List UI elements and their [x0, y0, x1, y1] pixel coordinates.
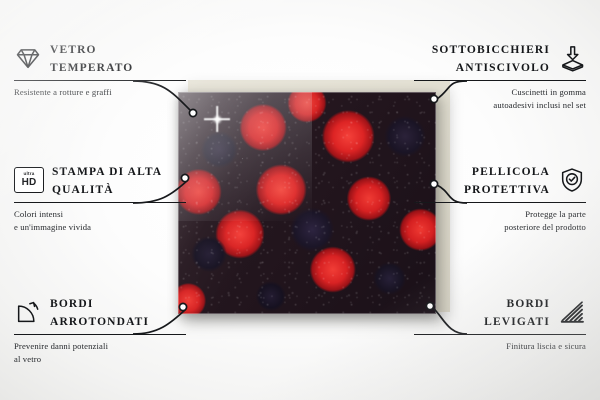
shield-check-icon [558, 166, 586, 194]
rounded-corner-icon [14, 298, 42, 326]
hatched-triangle-icon [558, 298, 586, 326]
title-line: ARROTONDATI [50, 316, 149, 328]
title-line: QUALITÀ [52, 184, 114, 196]
anti-slip-pad-icon [558, 44, 586, 72]
feature-rule [414, 334, 586, 336]
feature-rule [14, 80, 186, 82]
feature-title: BORDI LEVIGATI [484, 294, 550, 330]
feature-stampa-alta-qualita: ultra HD STAMPA DI ALTA QUALITÀ Colori i… [14, 162, 186, 233]
feature-title: BORDI ARROTONDATI [50, 294, 149, 330]
title-line: VETRO [50, 44, 97, 56]
feature-description: Cuscinetti in gomma autoadesivi inclusi … [414, 86, 586, 111]
hd-label: HD [22, 178, 37, 188]
feature-bordi-arrotondati: BORDI ARROTONDATI Prevenire danni potenz… [14, 294, 186, 365]
diamond-icon [14, 44, 42, 72]
feature-bordi-levigati: BORDI LEVIGATI Finitura liscia e sicura [414, 294, 586, 353]
title-line: LEVIGATI [484, 316, 550, 328]
feature-vetro-temperato: VETRO TEMPERATO Resistente a rotture e g… [14, 40, 186, 99]
feature-pellicola-protettiva: PELLICOLA PROTETTIVA Protegge la parte p… [414, 162, 586, 233]
printed-glass-panel [178, 92, 436, 314]
title-line: BORDI [50, 298, 93, 310]
feature-rule [414, 202, 586, 204]
feature-sottobicchieri-antiscivolo: SOTTOBICCHIERI ANTISCIVOLO Cuscinetti in… [414, 40, 586, 111]
ultra-label: ultra [24, 172, 35, 177]
feature-rule [14, 202, 186, 204]
feature-description: Prevenire danni potenziali al vetro [14, 340, 186, 365]
feature-title: SOTTOBICCHIERI ANTISCIVOLO [432, 40, 550, 76]
feature-title: VETRO TEMPERATO [50, 40, 133, 76]
feature-title: STAMPA DI ALTA QUALITÀ [52, 162, 162, 198]
feature-title: PELLICOLA PROTETTIVA [464, 162, 550, 198]
title-line: ANTISCIVOLO [456, 62, 550, 74]
title-line: SOTTOBICCHIERI [432, 44, 550, 56]
title-line: STAMPA DI ALTA [52, 166, 162, 178]
feature-description: Colori intensi e un'immagine vivida [14, 208, 186, 233]
berries-photo [178, 92, 436, 314]
product-image [150, 80, 450, 320]
feature-rule [14, 334, 186, 336]
feature-rule [414, 80, 586, 82]
title-line: BORDI [507, 298, 550, 310]
ultra-hd-badge-icon: ultra HD [14, 167, 44, 193]
feature-description: Finitura liscia e sicura [414, 340, 586, 352]
feature-description: Resistente a rotture e graffi [14, 86, 186, 98]
title-line: PROTETTIVA [464, 184, 550, 196]
title-line: PELLICOLA [472, 166, 550, 178]
feature-description: Protegge la parte posteriore del prodott… [414, 208, 586, 233]
product-infographic: VETRO TEMPERATO Resistente a rotture e g… [0, 0, 600, 400]
title-line: TEMPERATO [50, 62, 133, 74]
